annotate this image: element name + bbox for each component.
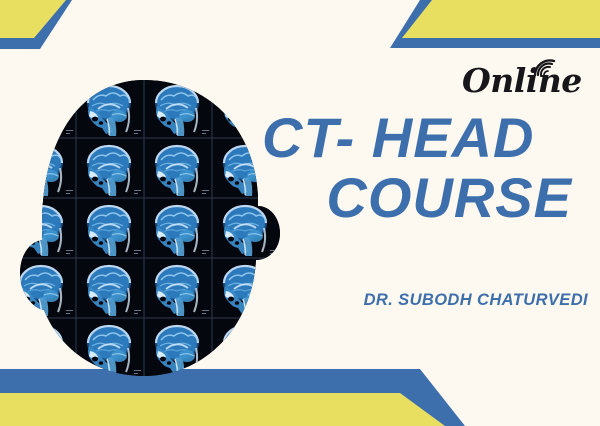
top-left-decoration xyxy=(0,0,130,60)
author-name: DR. SUBODH CHATURVEDI xyxy=(258,291,600,310)
head-silhouette-with-ct-scan-grid xyxy=(8,78,280,378)
top-left-blue-band xyxy=(0,0,72,49)
poster-canvas: Online CT- HEAD COURSE DR. SUBODH CHATUR… xyxy=(0,0,600,426)
top-right-yellow-shape xyxy=(402,0,600,38)
ct-scan-grid xyxy=(8,78,280,378)
top-right-blue-band xyxy=(390,0,600,48)
top-left-yellow-shape xyxy=(0,0,66,38)
online-logo-text: Online xyxy=(462,62,582,100)
title-line-2: COURSE xyxy=(258,168,588,228)
page-title: CT- HEAD COURSE xyxy=(258,108,588,228)
online-logo: Online xyxy=(462,58,582,104)
bottom-yellow-band xyxy=(0,393,445,426)
title-line-1: CT- HEAD xyxy=(258,108,588,168)
top-right-decoration xyxy=(390,0,600,60)
